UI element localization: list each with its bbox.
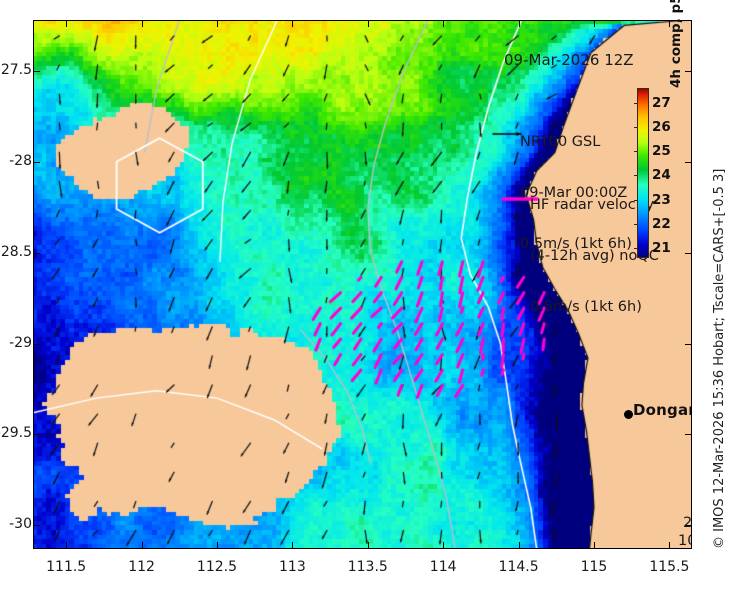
y-tick <box>33 344 40 345</box>
isobath-200m-label: 200m <box>683 515 692 531</box>
y-tick <box>685 434 692 435</box>
colorbar-tick <box>634 127 638 128</box>
x-tick <box>217 20 218 27</box>
colorbar-tick <box>634 151 638 152</box>
y-tick <box>33 525 40 526</box>
colorbar-title: 4h comp, p50, All Sats <box>668 0 686 88</box>
isobath-1000m-label: 1000m <box>678 533 692 549</box>
x-tick <box>443 542 444 549</box>
date-stamp: 09-Mar-2026 12Z <box>504 52 634 69</box>
x-tick <box>519 542 520 549</box>
x-tick <box>66 20 67 27</box>
x-tick <box>519 20 520 27</box>
x-tick <box>443 20 444 27</box>
x-tick <box>669 20 670 27</box>
y-tick <box>685 344 692 345</box>
colorbar-tick <box>634 200 638 201</box>
colorbar-frame <box>637 88 649 258</box>
colorbar-tick <box>634 175 638 176</box>
y-tick <box>685 253 692 254</box>
x-tick-label: 111.5 <box>36 559 96 575</box>
x-tick-label: 112.5 <box>187 559 247 575</box>
colorbar-tick-label: 22 <box>652 216 671 232</box>
y-tick <box>685 525 692 526</box>
x-tick-label: 115 <box>564 559 624 575</box>
x-tick-label: 114 <box>413 559 473 575</box>
colorbar-tick-label: 27 <box>652 95 671 111</box>
y-tick <box>33 253 40 254</box>
y-tick-label: -29 <box>0 335 32 351</box>
x-tick <box>142 542 143 549</box>
town-marker-dot <box>624 410 633 419</box>
x-tick <box>142 20 143 27</box>
x-tick-label: 115.5 <box>639 559 699 575</box>
x-tick-label: 113 <box>262 559 322 575</box>
town-label: Dongara <box>633 401 692 419</box>
y-tick-label: -30 <box>0 516 32 532</box>
x-tick <box>292 20 293 27</box>
colorbar-tick <box>634 103 638 104</box>
x-tick <box>669 542 670 549</box>
y-tick <box>685 71 692 72</box>
x-tick <box>368 20 369 27</box>
x-tick <box>594 542 595 549</box>
colorbar-tick-label: 25 <box>652 143 671 159</box>
x-tick <box>594 20 595 27</box>
x-tick <box>217 542 218 549</box>
colorbar-tick <box>634 224 638 225</box>
y-tick-label: -27.5 <box>0 62 32 78</box>
x-tick <box>66 542 67 549</box>
y-tick <box>685 162 692 163</box>
x-tick <box>368 542 369 549</box>
y-tick <box>33 434 40 435</box>
x-tick-label: 112 <box>112 559 172 575</box>
y-tick-label: -28.5 <box>0 244 32 260</box>
x-tick <box>292 542 293 549</box>
radar-legend-line3: 0.5m/s (1kt 6h) <box>530 299 659 316</box>
x-tick-label: 114.5 <box>489 559 549 575</box>
model-legend-line1: NRT00 GSL <box>520 134 632 151</box>
colorbar-tick-label: 21 <box>652 240 671 256</box>
figure-canvas: 09-Mar-2026 12Z NRT00 GSL 09-Mar 00:00Z … <box>0 0 740 592</box>
y-tick <box>33 162 40 163</box>
colorbar-tick-label: 24 <box>652 167 671 183</box>
x-tick-label: 113.5 <box>338 559 398 575</box>
colorbar-tick-label: 23 <box>652 192 671 208</box>
map-panel[interactable]: 09-Mar-2026 12Z NRT00 GSL 09-Mar 00:00Z … <box>33 20 692 549</box>
y-tick-label: -29.5 <box>0 425 32 441</box>
y-tick <box>33 71 40 72</box>
colorbar-tick <box>634 248 638 249</box>
credit-text: © IMOS 12-Mar-2026 15:36 Hobart; Tscale=… <box>712 129 728 549</box>
y-tick-label: -28 <box>0 153 32 169</box>
colorbar-tick-label: 26 <box>652 119 671 135</box>
